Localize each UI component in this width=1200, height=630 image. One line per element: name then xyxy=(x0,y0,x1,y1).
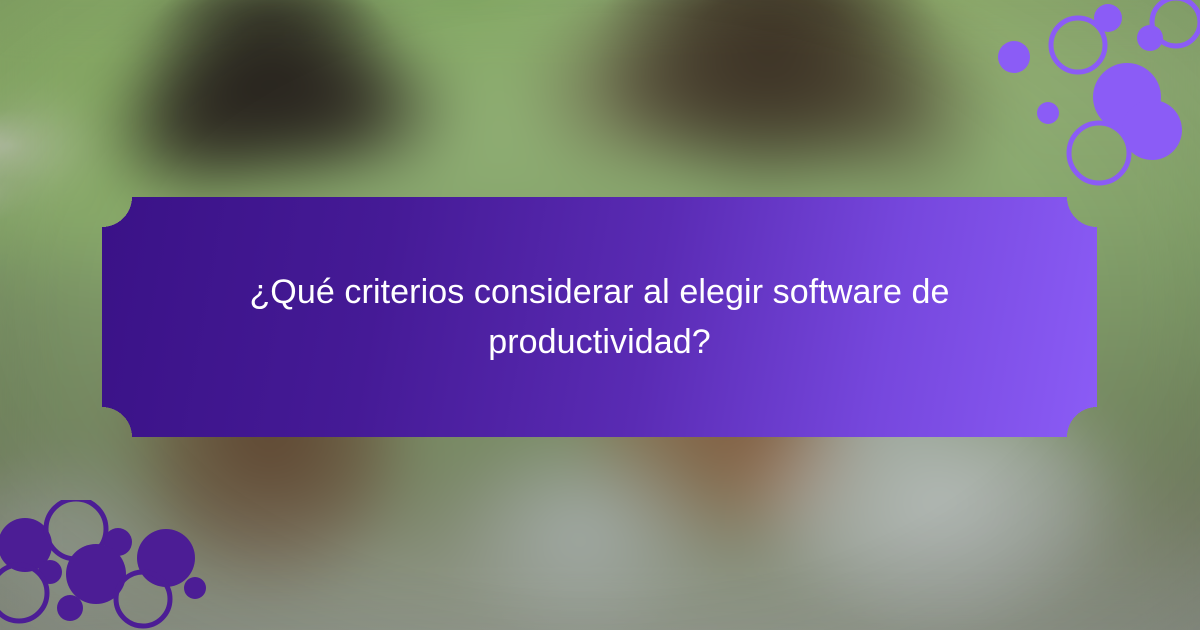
social-card-canvas: ¿Qué criterios considerar al elegir soft… xyxy=(0,0,1200,630)
decorative-circles-bottom-left xyxy=(0,500,220,630)
decorative-circle xyxy=(137,529,195,587)
decorative-circle xyxy=(1094,4,1122,32)
circle-cluster-top-right-svg xyxy=(980,0,1200,190)
decorative-circle xyxy=(116,572,170,626)
decorative-circle xyxy=(57,595,83,621)
decorative-circle xyxy=(0,565,47,621)
decorative-circle xyxy=(1122,100,1182,160)
decorative-circle xyxy=(998,41,1030,73)
circle-cluster-bottom-left-svg xyxy=(0,500,220,630)
decorative-circle xyxy=(184,577,206,599)
headline-text: ¿Qué criterios considerar al elegir soft… xyxy=(170,267,1030,368)
decorative-circle xyxy=(1069,123,1129,183)
decorative-circles-top-right xyxy=(980,0,1200,190)
quote-card: ¿Qué criterios considerar al elegir soft… xyxy=(102,197,1097,437)
decorative-circle xyxy=(1152,0,1200,46)
decorative-circle xyxy=(1037,102,1059,124)
